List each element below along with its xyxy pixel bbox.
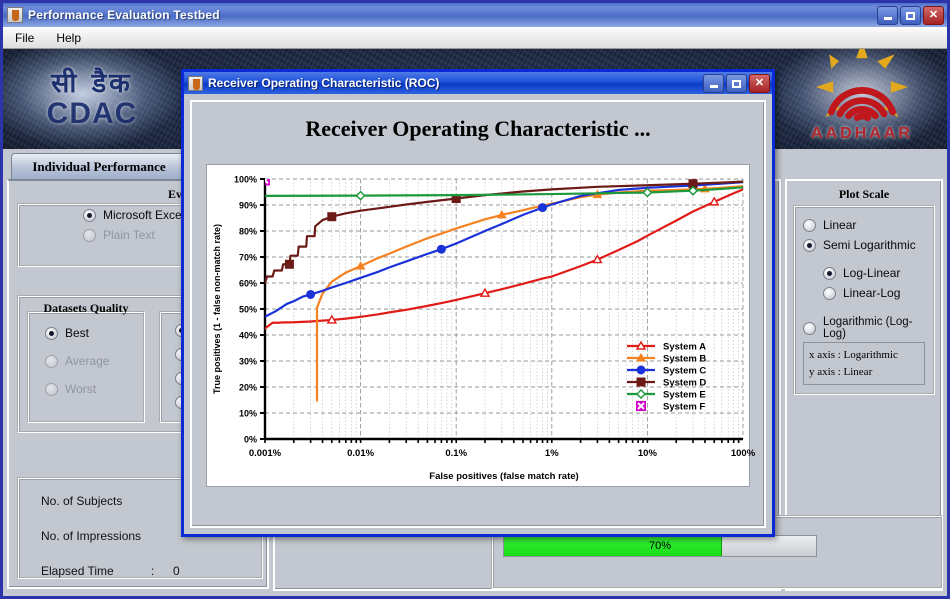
plot-scale-title: Plot Scale — [787, 187, 941, 202]
datasets-quality-title: Datasets Quality — [27, 301, 145, 316]
radio-indicator — [45, 355, 58, 368]
radio-indicator — [823, 287, 836, 300]
progress-bar: 70% — [503, 535, 817, 557]
window-title: Performance Evaluation Testbed — [28, 8, 220, 22]
radio-best[interactable]: Best — [31, 323, 143, 343]
radio-indicator — [823, 267, 836, 280]
info-key: Elapsed Time — [19, 564, 151, 578]
radio-indicator — [45, 327, 58, 340]
svg-text:60%: 60% — [239, 279, 257, 289]
axis-note-y: y axis : Linear — [809, 364, 919, 381]
radio-log-linear[interactable]: Log-Linear — [795, 263, 933, 283]
aadhaar-logo: AADHAAR — [777, 49, 947, 149]
svg-text:False positives (false match r: False positives (false match rate) — [429, 471, 578, 482]
info-row-total-time: Total Time : 0 — [19, 588, 261, 599]
info-value: 0 — [173, 564, 180, 578]
cdac-logo: सी डैक CDAC — [3, 49, 181, 149]
maximize-icon[interactable] — [900, 6, 921, 25]
radio-indicator — [45, 383, 58, 396]
axis-note-x: x axis : Logarithmic — [809, 347, 919, 364]
radio-indicator — [803, 322, 816, 335]
svg-text:10%: 10% — [239, 409, 257, 419]
menu-item-help[interactable]: Help — [52, 30, 85, 46]
window-controls: ✕ — [877, 6, 944, 25]
plot-scale-group: Linear Semi Logarithmic Log-Linear Linea… — [793, 205, 935, 395]
maximize-icon[interactable] — [726, 74, 747, 93]
progress-bar-label: 70% — [504, 536, 816, 556]
svg-text:90%: 90% — [239, 201, 257, 211]
svg-text:50%: 50% — [239, 305, 257, 315]
chart-title: Receiver Operating Characteristic ... — [192, 102, 764, 152]
info-key: No. of Impressions — [19, 529, 151, 543]
radio-linear-log[interactable]: Linear-Log — [795, 283, 933, 303]
roc-dialog-controls: ✕ — [703, 74, 770, 93]
aadhaar-fingerprint-sun-icon — [814, 49, 910, 135]
svg-text:80%: 80% — [239, 227, 257, 237]
svg-text:100%: 100% — [234, 175, 257, 185]
radio-indicator — [83, 229, 96, 242]
svg-text:1%: 1% — [545, 448, 559, 459]
application-window: Performance Evaluation Testbed ✕ File He… — [0, 0, 950, 599]
roc-chart: 0%10%20%30%40%50%60%70%80%90%100%0.001%0… — [206, 164, 750, 487]
main-title-bar: Performance Evaluation Testbed ✕ — [3, 3, 947, 27]
menu-item-file[interactable]: File — [11, 30, 38, 46]
svg-text:70%: 70% — [239, 253, 257, 263]
close-icon[interactable]: ✕ — [749, 74, 770, 93]
roc-dialog-title: Receiver Operating Characteristic (ROC) — [208, 76, 439, 90]
radio-label: Semi Logarithmic — [823, 238, 916, 252]
radio-label: Linear — [823, 218, 856, 232]
radio-label: Plain Text — [103, 228, 155, 242]
svg-text:0.01%: 0.01% — [347, 448, 374, 459]
minimize-icon[interactable] — [877, 6, 898, 25]
radio-semi-logarithmic[interactable]: Semi Logarithmic — [795, 235, 933, 255]
svg-text:0%: 0% — [244, 435, 257, 445]
info-row-elapsed-time: Elapsed Time : 0 — [19, 553, 261, 588]
svg-text:System C: System C — [663, 366, 706, 377]
radio-worst[interactable]: Worst — [31, 379, 143, 399]
radio-label: Logarithmic (Log-Log) — [823, 316, 933, 340]
info-separator: : — [151, 564, 173, 578]
radio-logarithmic-log-log[interactable]: Logarithmic (Log-Log) — [795, 313, 933, 343]
svg-text:System B: System B — [663, 354, 706, 365]
svg-text:40%: 40% — [239, 331, 257, 341]
svg-text:System E: System E — [663, 390, 706, 401]
cdac-logo-english: CDAC — [47, 99, 138, 129]
svg-text:System A: System A — [663, 342, 706, 353]
java-coffee-icon — [188, 76, 203, 91]
svg-text:0.1%: 0.1% — [445, 448, 467, 459]
svg-text:0.001%: 0.001% — [249, 448, 282, 459]
minimize-icon[interactable] — [703, 74, 724, 93]
svg-text:System F: System F — [663, 402, 705, 413]
radio-label: Best — [65, 326, 89, 340]
radio-label: Average — [65, 354, 109, 368]
radio-label: Worst — [65, 382, 96, 396]
svg-text:True positives (1 - false non-: True positives (1 - false non-match rate… — [212, 224, 222, 394]
radio-indicator — [83, 209, 96, 222]
radio-indicator — [803, 219, 816, 232]
aadhaar-wordmark: AADHAAR — [777, 125, 947, 143]
roc-dialog-title-bar: Receiver Operating Characteristic (ROC) … — [184, 72, 772, 94]
close-icon[interactable]: ✕ — [923, 6, 944, 25]
radio-label: Log-Linear — [843, 266, 900, 280]
svg-text:10%: 10% — [638, 448, 658, 459]
svg-text:100%: 100% — [731, 448, 756, 459]
svg-text:20%: 20% — [239, 383, 257, 393]
roc-dialog: Receiver Operating Characteristic (ROC) … — [181, 69, 775, 537]
svg-text:System D: System D — [663, 378, 706, 389]
axis-scale-note: x axis : Logarithmic y axis : Linear — [803, 342, 925, 385]
java-coffee-icon — [7, 7, 23, 23]
svg-text:30%: 30% — [239, 357, 257, 367]
roc-chart-svg: 0%10%20%30%40%50%60%70%80%90%100%0.001%0… — [207, 165, 757, 485]
radio-linear[interactable]: Linear — [795, 215, 933, 235]
cdac-logo-hindi: सी डैक — [51, 70, 133, 97]
radio-label: Linear-Log — [843, 286, 900, 300]
radio-indicator — [803, 239, 816, 252]
radio-label: Microsoft Excel — [103, 208, 184, 222]
info-key: No. of Subjects — [19, 494, 151, 508]
tab-individual-performance[interactable]: Individual Performance — [11, 153, 187, 179]
roc-dialog-content: Receiver Operating Characteristic ... 0%… — [190, 100, 766, 528]
radio-average[interactable]: Average — [31, 351, 143, 371]
menu-bar: File Help — [3, 27, 947, 49]
